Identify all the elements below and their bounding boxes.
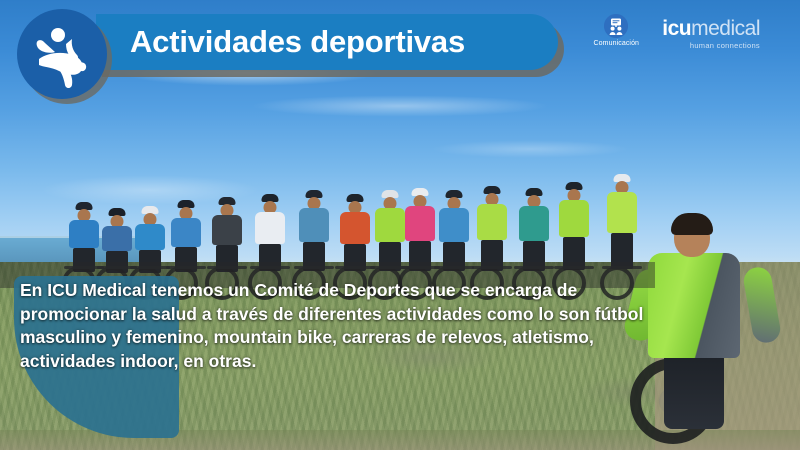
slide-root: Actividades deportivas Comunicación [0, 0, 800, 450]
icu-medical-logo: icumedical human connections [662, 14, 760, 50]
jersey [255, 212, 285, 244]
jersey [135, 224, 165, 250]
soccer-bicycle-kick-icon [17, 9, 107, 99]
jersey [212, 215, 242, 245]
jersey [340, 212, 370, 244]
jersey [299, 208, 329, 242]
cloud [250, 95, 550, 117]
communication-label: Comunicación [594, 40, 640, 47]
page-title: Actividades deportivas [130, 19, 560, 65]
brand-tagline: human connections [690, 41, 760, 50]
body-text-line: promocionar la salud a través de diferen… [20, 303, 678, 327]
body-text-line: actividades indoor, en otras. [20, 350, 678, 374]
jersey [559, 200, 589, 237]
cyclist-hair [671, 213, 713, 235]
jersey [171, 218, 201, 247]
brand-wordmark: icumedical [662, 18, 760, 40]
communication-logo: Comunicación [584, 14, 648, 47]
brand-name-light: medical [691, 17, 760, 40]
jersey [477, 204, 507, 240]
jersey [439, 208, 469, 242]
jersey [519, 206, 549, 241]
body-text: En ICU Medical tenemos un Comité de Depo… [20, 279, 678, 373]
jersey [607, 192, 637, 233]
brand-name-bold: icu [662, 17, 691, 40]
communication-people-icon [604, 14, 628, 38]
logo-area: Comunicación icumedical human connection… [584, 14, 760, 60]
body-text-line: masculino y femenino, mountain bike, car… [20, 326, 678, 350]
jersey [405, 206, 435, 241]
body-text-line: En ICU Medical tenemos un Comité de Depo… [20, 279, 678, 303]
